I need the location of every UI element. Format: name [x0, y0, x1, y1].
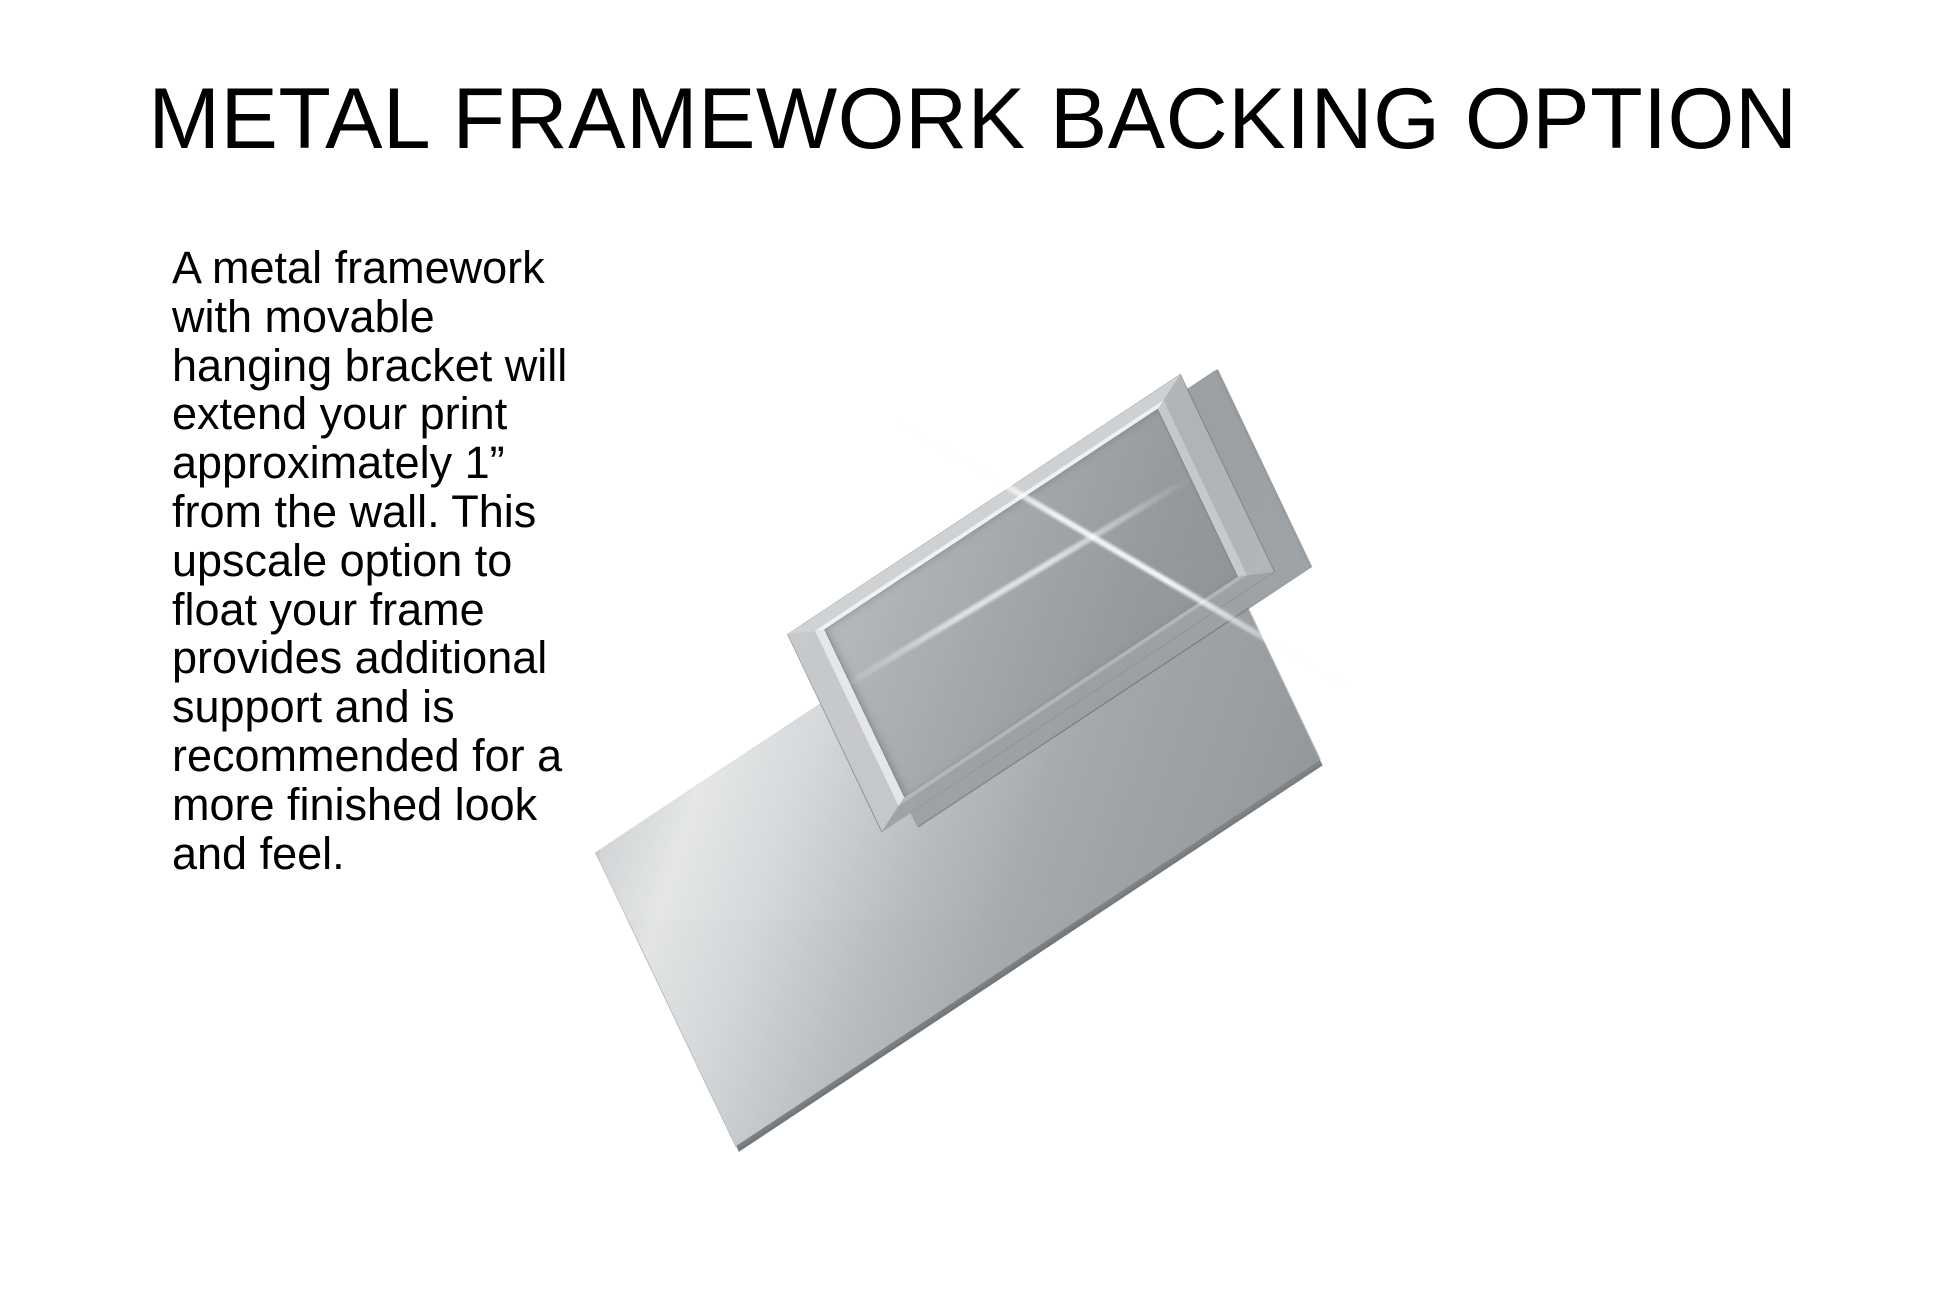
product-photo-scene: [600, 360, 1600, 920]
slide-canvas: METAL FRAMEWORK BACKING OPTION A metal f…: [0, 0, 1946, 1297]
body-paragraph: A metal framework with movable hanging b…: [172, 244, 602, 878]
page-title: METAL FRAMEWORK BACKING OPTION: [0, 76, 1946, 162]
product-photo: [600, 360, 1600, 920]
